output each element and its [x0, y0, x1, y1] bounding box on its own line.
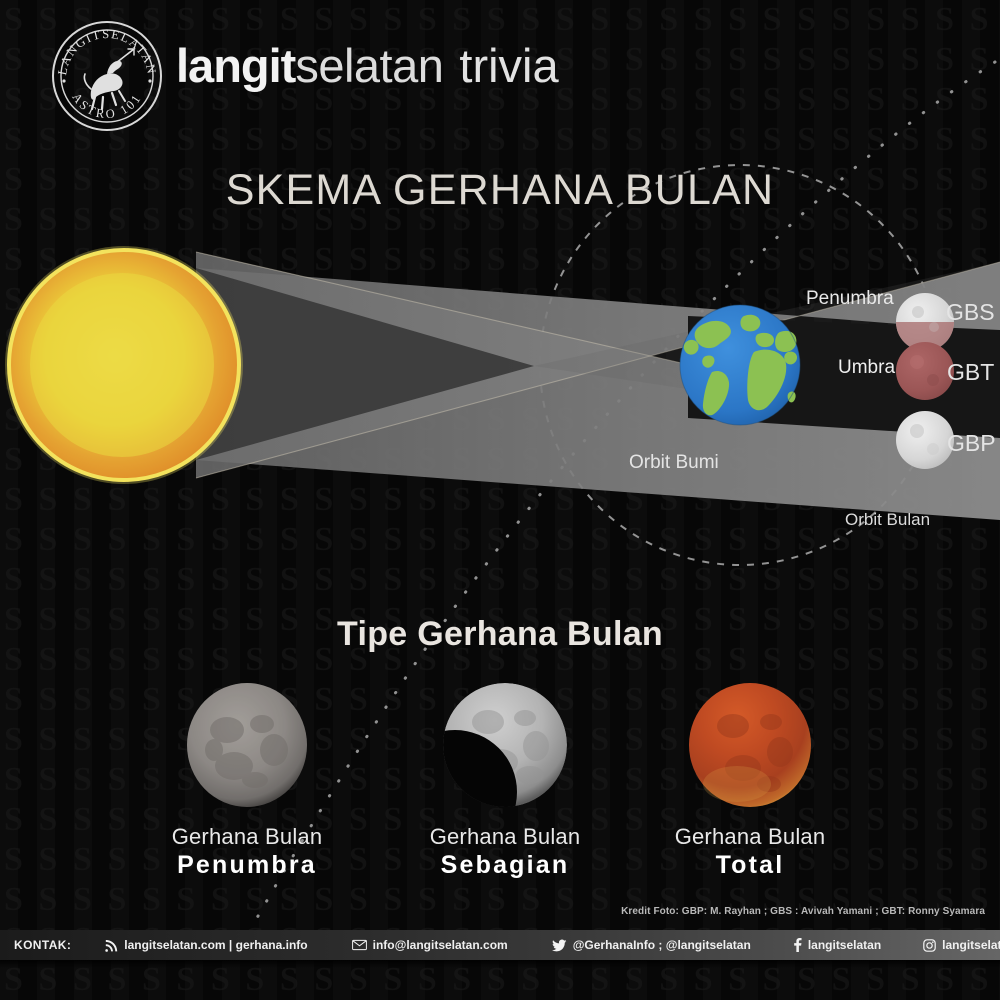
label-gbs: GBS — [946, 299, 995, 326]
infographic-poster: SSSSSSSSSSSSSSSSSSSSSSSSSSSSSSSSSSSSSSSS… — [0, 0, 1000, 1000]
footer-email-text: info@langitselatan.com — [373, 938, 508, 952]
moon-partial-eclipse-photo — [380, 680, 630, 810]
label-umbra: Umbra — [838, 357, 895, 379]
eclipse-type-card-total: Gerhana Bulan Total — [625, 680, 875, 880]
label-gbp: GBP — [947, 430, 996, 457]
earth — [680, 305, 800, 425]
eclipse-type-caption-top: Gerhana Bulan — [380, 824, 630, 850]
photo-credit: Kredit Foto: GBP: M. Rayhan ; GBS : Aviv… — [0, 906, 985, 917]
section-title-types: Tipe Gerhana Bulan — [0, 615, 1000, 654]
twitter-icon — [552, 939, 567, 952]
label-orbit-bumi: Orbit Bumi — [629, 452, 719, 474]
logo-arc-bottom-text: ASTRO 101 — [69, 90, 144, 121]
eclipse-type-caption-top: Gerhana Bulan — [122, 824, 372, 850]
page-title: SKEMA GERHANA BULAN — [0, 166, 1000, 215]
brand-bold-text: langit — [176, 39, 295, 92]
rss-icon — [105, 939, 118, 952]
brand-wordmark: langitselatantrivia — [176, 40, 559, 92]
sun-inner-disc — [30, 273, 214, 457]
footer-shadow — [0, 960, 1000, 968]
instagram-icon — [923, 939, 936, 952]
footer-item-email[interactable]: info@langitselatan.com — [352, 938, 508, 952]
label-gbt: GBT — [947, 359, 994, 386]
eclipse-type-card-penumbra: Gerhana Bulan Penumbra — [122, 680, 372, 880]
brand-trivia-text: trivia — [459, 39, 558, 92]
footer-item-website[interactable]: langitselatan.com | gerhana.info — [105, 938, 307, 952]
footer-item-facebook[interactable]: langitselatan — [793, 938, 881, 952]
footer-kontak-label: KONTAK: — [14, 938, 71, 952]
eclipse-type-caption-top: Gerhana Bulan — [625, 824, 875, 850]
moon-gbp — [896, 411, 954, 469]
footer-website-text: langitselatan.com | gerhana.info — [124, 938, 307, 952]
langitselatan-logo[interactable]: LANGITSELATAN ASTRO 101 — [50, 19, 164, 133]
eclipse-type-caption-bottom: Sebagian — [380, 851, 630, 880]
footer-item-instagram[interactable]: langitselatanmedia — [923, 938, 1000, 952]
header: LANGITSELATAN ASTRO 101 langitselatantri… — [0, 0, 1000, 150]
footer-contact-bar: KONTAK: langitselatan.com | gerhana.info… — [0, 930, 1000, 960]
eclipse-type-caption-bottom: Total — [625, 851, 875, 880]
envelope-icon — [352, 939, 367, 951]
label-penumbra: Penumbra — [806, 288, 894, 310]
footer-item-twitter[interactable]: @GerhanaInfo ; @langitselatan — [552, 938, 751, 952]
eclipse-type-caption-bottom: Penumbra — [122, 851, 372, 880]
moon-penumbral-eclipse-photo — [122, 680, 372, 810]
footer-instagram-text: langitselatanmedia — [942, 938, 1000, 952]
logo-arc-top-text: LANGITSELATAN — [55, 27, 159, 76]
label-orbit-bulan: Orbit Bulan — [845, 510, 930, 530]
eclipse-type-card-sebagian: Gerhana Bulan Sebagian — [380, 680, 630, 880]
moon-gbt — [896, 342, 954, 400]
moon-total-eclipse-photo — [625, 680, 875, 810]
footer-facebook-text: langitselatan — [808, 938, 881, 952]
footer-twitter-text: @GerhanaInfo ; @langitselatan — [573, 938, 751, 952]
facebook-icon — [793, 938, 802, 952]
brand-thin-text: selatan — [295, 39, 443, 92]
